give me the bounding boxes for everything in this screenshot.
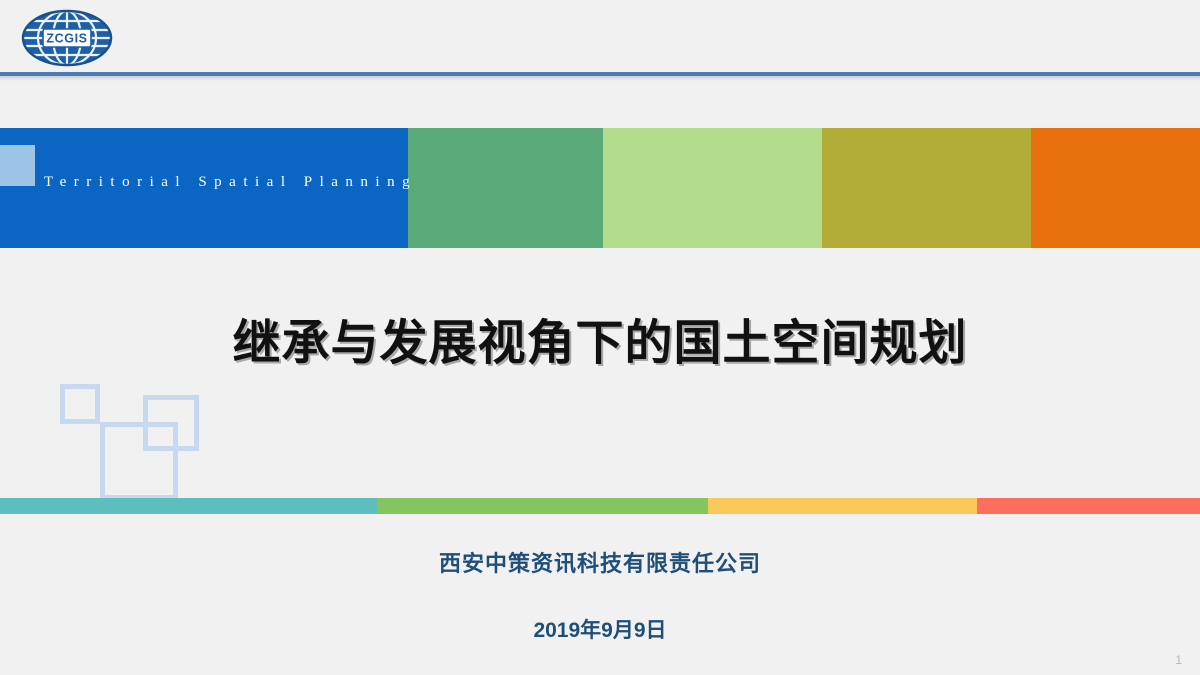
- decorative-squares: [55, 382, 175, 472]
- presentation-date: 2019年9月9日: [0, 614, 1200, 644]
- decorative-square-small: [60, 384, 100, 424]
- company-name: 西安中策资讯科技有限责任公司: [0, 546, 1200, 578]
- slide-header: ZCGIS: [0, 0, 1200, 76]
- band-segment-orange: [1031, 128, 1200, 248]
- bottom-color-bar: [0, 498, 1200, 514]
- company-logo: ZCGIS: [18, 8, 116, 68]
- band-segment-green: [408, 128, 603, 248]
- band-segment-blue: Territorial Spatial Planning: [0, 128, 408, 248]
- header-divider-shadow: [0, 76, 1200, 81]
- band-segment-light-green: [603, 128, 822, 248]
- bar-segment-yellow: [708, 498, 977, 514]
- bar-segment-coral: [977, 498, 1200, 514]
- band-accent-square: [0, 145, 35, 186]
- color-band: Territorial Spatial Planning: [0, 128, 1200, 248]
- logo-text: ZCGIS: [46, 32, 87, 46]
- presentation-slide: ZCGIS Territorial Spatial Planning 继承与发展…: [0, 0, 1200, 675]
- bar-segment-green: [377, 498, 708, 514]
- slide-title: 继承与发展视角下的国土空间规划: [0, 303, 1200, 373]
- english-subtitle: Territorial Spatial Planning: [44, 174, 417, 191]
- bar-segment-teal: [0, 498, 377, 514]
- band-segment-olive: [822, 128, 1031, 248]
- globe-logo-icon: ZCGIS: [18, 8, 116, 68]
- decorative-square-medium: [143, 395, 199, 451]
- page-number: 1: [1175, 653, 1182, 667]
